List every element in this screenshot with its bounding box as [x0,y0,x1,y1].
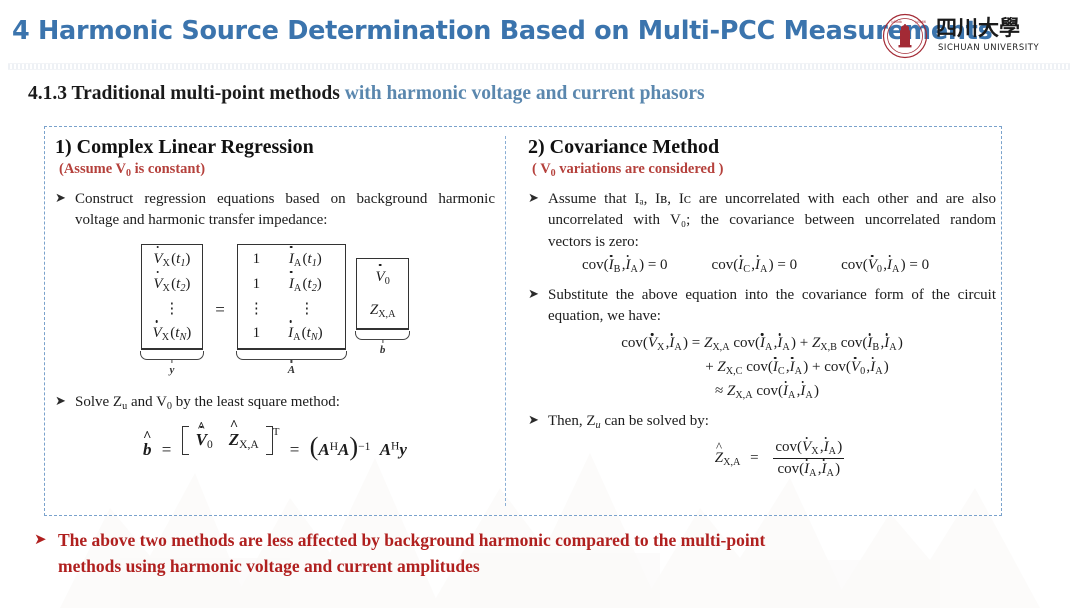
svg-text:\u5b66: \u5b66 [915,20,926,24]
cov-zero-item: cov(IB ,IA ) = 0 [582,257,668,275]
right-bullet-3: ➤ Then, Zu can be solved by: [528,411,996,433]
conclusion-line-1: The above two methods are less affected … [58,530,765,550]
underbrace-y [140,351,205,360]
matrix-equation: VX (t1) VX (t2) ⋮ VX (tN) y = 1IA (t1) 1… [55,244,495,376]
matrix-y-bracket: VX (t1) VX (t2) ⋮ VX (tN) [141,244,204,350]
logo-wordmark-cn: 四川大學 [936,16,1020,40]
left-bullet-2: ➤ Solve Zu and V0 by the least square me… [55,392,495,414]
final-impedance-equation: ZX,A = cov(VX ,IA ) cov(IA ,IA ) [528,439,996,479]
matrix-A-row: 1IA (t2) [245,272,338,297]
right-bullet-1: ➤ Assume that Iₐ, Iʙ, Iᴄ are uncorrelate… [528,189,996,253]
covariance-fraction: cov(VX ,IA ) cov(IA ,IA ) [771,439,846,479]
fraction-denominator: cov(IA ,IA ) [773,458,844,479]
section-subheading: 4.1.3 Traditional multi-point methods wi… [28,83,705,105]
conclusion-block: ➤ The above two methods are less affecte… [34,528,1050,579]
left-panel-assumption: (Assume V0 is constant) [59,161,495,179]
matrix-y: VX (t1) VX (t2) ⋮ VX (tN) y [141,244,204,376]
logo-wordmark: 四川大學 SICHUAN UNIVERSITY [936,12,1058,61]
left-bullet-2-pre: Solve Z [75,394,122,410]
covariance-equation-line-3: ≈ ZX,A cov(IA ,IA ) [528,383,996,401]
matrix-A-row: ⋮⋮ [245,297,338,322]
arrow-bullet-icon: ➤ [55,189,75,208]
right-bullet-3-post: can be solved by: [601,413,709,429]
arrow-bullet-icon: ➤ [55,392,75,411]
left-bullet-2-mid: and V [127,394,167,410]
column-divider [505,136,506,506]
right-bullet-2: ➤ Substitute the above equation into the… [528,285,996,328]
matrix-label-b: b [380,344,386,356]
left-bullet-1: ➤ Construct regression equations based o… [55,189,495,232]
right-panel-title: 2) Covariance Method [528,136,996,159]
page-title: 4 Harmonic Source Determination Based on… [12,16,992,46]
slide-header: 4 Harmonic Source Determination Based on… [0,0,1080,72]
conclusion-text: The above two methods are less affected … [58,528,1050,579]
matrix-b-cell: ZX,A [364,294,402,327]
left-assumption-prefix: (Assume V [59,161,126,177]
matrix-b-cell: V0 [364,261,402,294]
matrix-A-row: 1IA (tN) [245,321,338,346]
cov-zero-item: cov(IC ,IA ) = 0 [712,257,798,275]
right-assumption-suffix: variations are considered ) [556,161,724,177]
left-panel: 1) Complex Linear Regression (Assume V0 … [55,136,495,466]
conclusion-line-2: methods using harmonic voltage and curre… [58,554,1050,580]
matrix-A-row: 1IA (t1) [245,247,338,272]
matrix-A-bracket: 1IA (t1) 1IA (t2) ⋮⋮ 1IA (tN) [237,244,346,350]
right-bullet-3-pre: Then, Z [548,413,595,429]
sichuan-university-seal-icon: \u56db \u5b66 [882,13,928,59]
matrix-y-cell: VX (t2) [149,272,196,297]
matrix-y-cell: VX (tN) [149,321,196,346]
left-panel-title: 1) Complex Linear Regression [55,136,495,159]
right-bullet-3-text: Then, Zu can be solved by: [548,411,996,433]
matrix-label-A: A [288,364,295,376]
header-divider [8,63,1070,70]
covariance-equation-line-1: cov(VX ,IA ) = ZX,A cov(IA ,IA ) + ZX,B … [528,335,996,353]
matrix-y-cell: ⋮ [149,297,196,322]
least-squares-equation: b = V0 ZX,A T = (AHA)−1 AHy [55,426,495,460]
right-panel: 2) Covariance Method ( V0 variations are… [528,136,996,485]
left-bullet-1-text: Construct regression equations based on … [75,189,495,232]
matrix-b-bracket: V0 ZX,A [356,258,410,330]
subheading-dark: 4.1.3 Traditional multi-point methods [28,83,340,104]
svg-text:\u56db: \u56db [891,20,902,24]
arrow-bullet-icon: ➤ [528,411,548,430]
slide: 4 Harmonic Source Determination Based on… [0,0,1080,608]
arrow-bullet-icon: ➤ [528,189,548,208]
university-logo: \u56db \u5b66 四川大學 SICHUAN UNIVERSITY [882,8,1072,64]
underbrace-b [355,331,411,340]
covariance-zero-row: cov(IB ,IA ) = 0 cov(IC ,IA ) = 0 cov(V0… [528,257,996,275]
logo-wordmark-en: SICHUAN UNIVERSITY [938,42,1040,52]
right-panel-assumption: ( V0 variations are considered ) [532,161,996,179]
right-bullet-1-text: Assume that Iₐ, Iʙ, Iᴄ are uncorrelated … [548,189,996,253]
subheading-blue: with harmonic voltage and current phasor… [345,83,705,104]
right-assumption-prefix: ( V [532,161,551,177]
matrix-label-y: y [169,364,174,376]
matrix-b: V0 ZX,A b [356,258,410,356]
left-assumption-suffix: is constant) [131,161,205,177]
left-bullet-2-text: Solve Zu and V0 by the least square meth… [75,392,495,414]
arrow-bullet-icon: ➤ [34,528,58,548]
right-bullet-2-text: Substitute the above equation into the c… [548,285,996,328]
cov-zero-item: cov(V0 ,IA ) = 0 [841,257,929,275]
matrix-y-cell: VX (t1) [149,247,196,272]
ls-bracket: V0 ZX,A T [182,426,280,455]
matrix-A: 1IA (t1) 1IA (t2) ⋮⋮ 1IA (tN) A [237,244,346,376]
fraction-numerator: cov(VX ,IA ) [771,439,846,458]
left-bullet-2-post: by the least square method: [172,394,340,410]
arrow-bullet-icon: ➤ [528,285,548,304]
covariance-equation-line-2: + ZX,C cov(IC ,IA ) + cov(V0 ,IA ) [528,359,996,377]
matrix-equals: = [213,300,227,320]
underbrace-A [236,351,347,360]
